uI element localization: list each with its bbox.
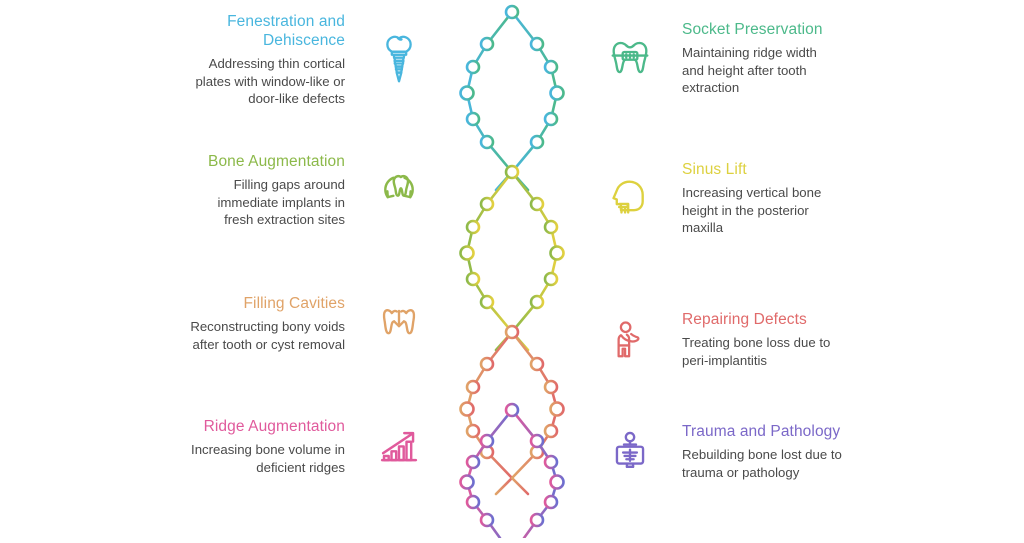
item-text-block: Filling Cavities Reconstructing bony voi… — [185, 294, 345, 353]
dna-double-helix-graphic — [440, 0, 600, 538]
item-description: Maintaining ridge width and height after… — [682, 44, 842, 97]
item-title: Repairing Defects — [682, 310, 807, 329]
head-profile-icon — [598, 166, 662, 230]
tooth-filling-arrow-icon — [367, 292, 431, 356]
item-socket-preservation: Socket Preservation Maintaining ridge wi… — [598, 20, 842, 97]
item-text-block: Ridge Augmentation Increasing bone volum… — [185, 417, 345, 476]
item-filling-cavities: Filling Cavities Reconstructing bony voi… — [185, 292, 431, 356]
item-text-block: Socket Preservation Maintaining ridge wi… — [682, 20, 842, 97]
tooth-braces-icon — [598, 26, 662, 90]
item-title: Trauma and Pathology — [682, 422, 840, 441]
item-title: Socket Preservation — [682, 20, 823, 39]
item-ridge-augmentation: Ridge Augmentation Increasing bone volum… — [185, 415, 431, 479]
item-text-block: Trauma and Pathology Rebuilding bone los… — [682, 422, 842, 481]
item-text-block: Sinus Lift Increasing vertical bone heig… — [682, 160, 842, 237]
item-bone-augmentation: Bone Augmentation Filling gaps around im… — [185, 152, 431, 229]
item-fenestration-and-dehiscence: Fenestration and Dehiscence Addressing t… — [185, 12, 431, 108]
item-description: Reconstructing bony voids after tooth or… — [185, 318, 345, 353]
item-repairing-defects: Repairing Defects Treating bone loss due… — [598, 308, 842, 372]
item-description: Increasing vertical bone height in the p… — [682, 184, 842, 237]
item-title: Filling Cavities — [243, 294, 345, 313]
item-title: Bone Augmentation — [208, 152, 345, 171]
item-title: Sinus Lift — [682, 160, 747, 179]
item-sinus-lift: Sinus Lift Increasing vertical bone heig… — [598, 160, 842, 237]
item-description: Addressing thin cortical plates with win… — [185, 55, 345, 108]
xray-monitor-icon — [598, 420, 662, 484]
item-text-block: Fenestration and Dehiscence Addressing t… — [185, 12, 345, 108]
dental-implant-icon — [367, 28, 431, 92]
item-description: Rebuilding bone lost due to trauma or pa… — [682, 446, 842, 481]
item-trauma-and-pathology: Trauma and Pathology Rebuilding bone los… — [598, 420, 842, 484]
person-figure-icon — [598, 308, 662, 372]
item-title: Fenestration and Dehiscence — [185, 12, 345, 50]
item-title: Ridge Augmentation — [204, 417, 345, 436]
tooth-regeneration-icon — [367, 158, 431, 222]
item-text-block: Bone Augmentation Filling gaps around im… — [185, 152, 345, 229]
item-description: Treating bone loss due to peri-implantit… — [682, 334, 842, 369]
infographic-canvas: Fenestration and Dehiscence Addressing t… — [0, 0, 1024, 538]
item-description: Filling gaps around immediate implants i… — [185, 176, 345, 229]
item-description: Increasing bone volume in deficient ridg… — [185, 441, 345, 476]
growth-chart-icon — [367, 415, 431, 479]
item-text-block: Repairing Defects Treating bone loss due… — [682, 310, 842, 369]
